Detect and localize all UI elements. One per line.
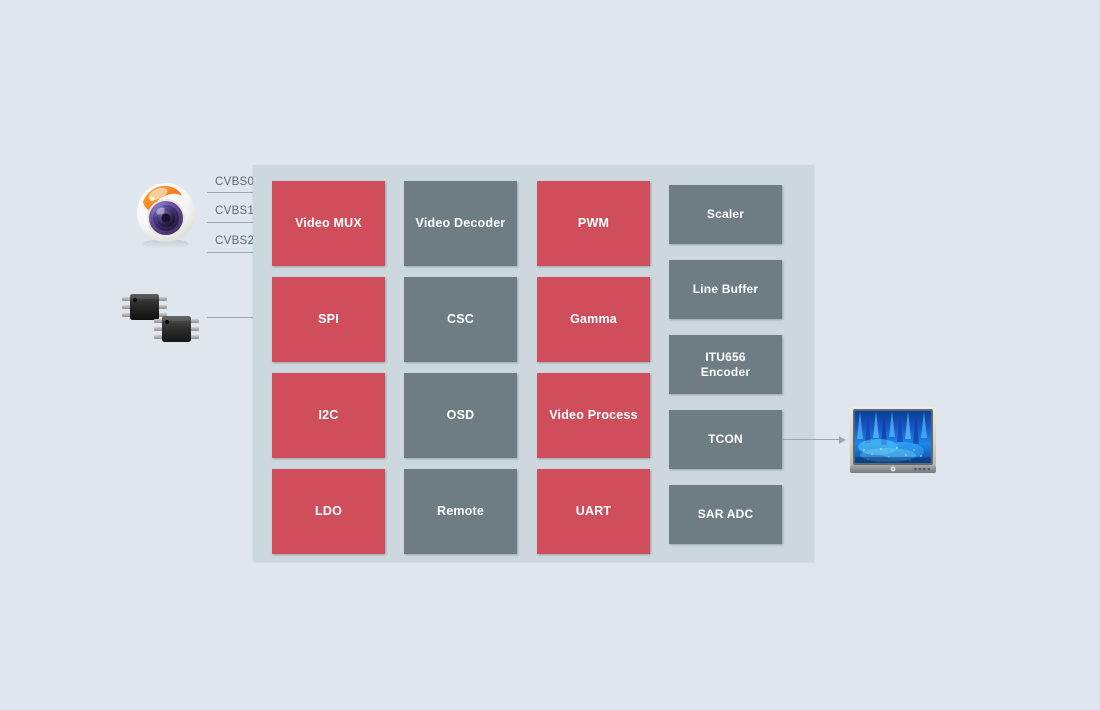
block-column-3: PWM Gamma Video Process UART xyxy=(537,181,650,565)
block-remote[interactable]: Remote xyxy=(404,469,517,554)
block-i2c[interactable]: I2C xyxy=(272,373,385,458)
block-itu656-encoder[interactable]: ITU656 Encoder xyxy=(669,335,782,394)
block-gamma[interactable]: Gamma xyxy=(537,277,650,362)
block-column-1: Video MUX SPI I2C LDO xyxy=(272,181,385,565)
signal-label-cvbs2: CVBS2 xyxy=(215,235,254,247)
ic-chip-icon xyxy=(118,292,210,346)
block-column-2: Video Decoder CSC OSD Remote xyxy=(404,181,517,565)
block-uart[interactable]: UART xyxy=(537,469,650,554)
block-scaler[interactable]: Scaler xyxy=(669,185,782,244)
block-column-4: Scaler Line Buffer ITU656 Encoder TCON S… xyxy=(669,185,782,560)
block-video-mux[interactable]: Video MUX xyxy=(272,181,385,266)
block-line-buffer[interactable]: Line Buffer xyxy=(669,260,782,319)
diagram-canvas: CVBS0 CVBS1 CVBS2 Video MUX SPI I2C LDO … xyxy=(0,0,1100,710)
soc-block-container: Video MUX SPI I2C LDO Video Decoder CSC … xyxy=(253,165,814,561)
camera-icon xyxy=(133,180,199,250)
signal-label-cvbs0: CVBS0 xyxy=(215,176,254,188)
block-pwm[interactable]: PWM xyxy=(537,181,650,266)
block-video-process[interactable]: Video Process xyxy=(537,373,650,458)
block-spi[interactable]: SPI xyxy=(272,277,385,362)
block-csc[interactable]: CSC xyxy=(404,277,517,362)
signal-label-cvbs1: CVBS1 xyxy=(215,205,254,217)
block-sar-adc[interactable]: SAR ADC xyxy=(669,485,782,544)
lcd-monitor-icon xyxy=(848,405,938,477)
signal-line-tcon-to-monitor xyxy=(783,439,845,440)
block-osd[interactable]: OSD xyxy=(404,373,517,458)
block-video-decoder[interactable]: Video Decoder xyxy=(404,181,517,266)
block-ldo[interactable]: LDO xyxy=(272,469,385,554)
block-tcon[interactable]: TCON xyxy=(669,410,782,469)
